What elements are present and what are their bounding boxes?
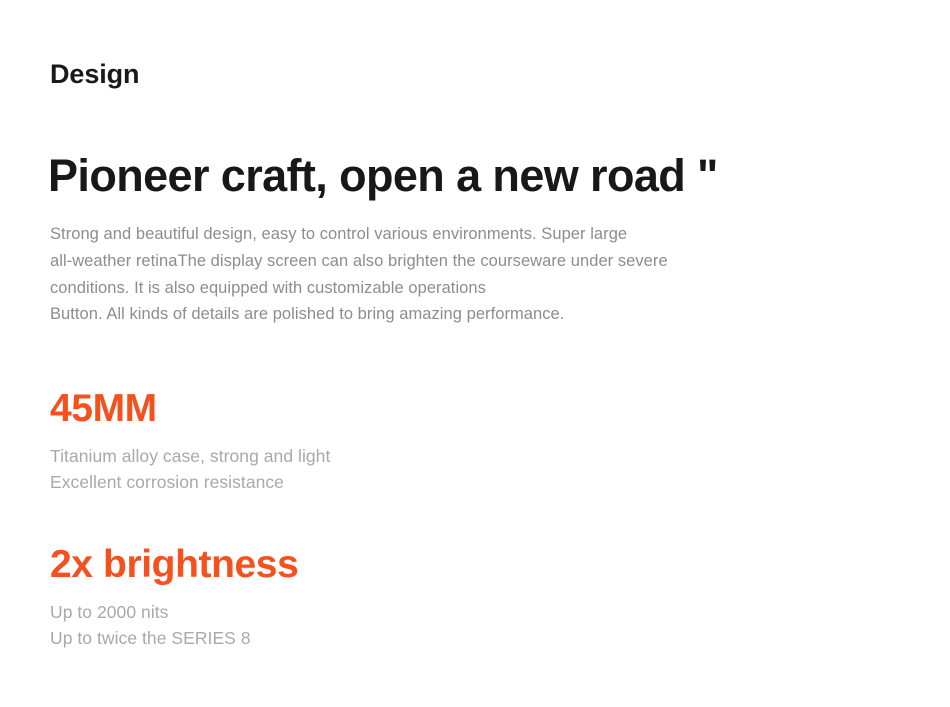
paragraph-line: all-weather retinaThe display screen can… bbox=[50, 248, 810, 275]
spec-value: 45MM bbox=[50, 386, 330, 431]
spec-block-case-size: 45MM Titanium alloy case, strong and lig… bbox=[50, 386, 330, 495]
paragraph-line: Strong and beautiful design, easy to con… bbox=[50, 221, 810, 248]
spec-notes: Titanium alloy case, strong and light Ex… bbox=[50, 444, 330, 495]
spec-note-line: Up to twice the SERIES 8 bbox=[50, 626, 298, 652]
paragraph-line: conditions. It is also equipped with cus… bbox=[50, 275, 810, 302]
spec-block-brightness: 2x brightness Up to 2000 nits Up to twic… bbox=[50, 542, 298, 651]
design-feature-slide: Design Pioneer craft, open a new road " … bbox=[0, 0, 950, 707]
description-paragraph: Strong and beautiful design, easy to con… bbox=[50, 221, 810, 328]
section-eyebrow-label: Design bbox=[50, 58, 139, 90]
paragraph-line: Button. All kinds of details are polishe… bbox=[50, 301, 810, 328]
spec-note-line: Titanium alloy case, strong and light bbox=[50, 444, 330, 470]
spec-note-line: Up to 2000 nits bbox=[50, 600, 298, 626]
spec-notes: Up to 2000 nits Up to twice the SERIES 8 bbox=[50, 600, 298, 651]
spec-note-line: Excellent corrosion resistance bbox=[50, 470, 330, 496]
page-title: Pioneer craft, open a new road " bbox=[48, 149, 718, 202]
spec-value: 2x brightness bbox=[50, 542, 298, 587]
